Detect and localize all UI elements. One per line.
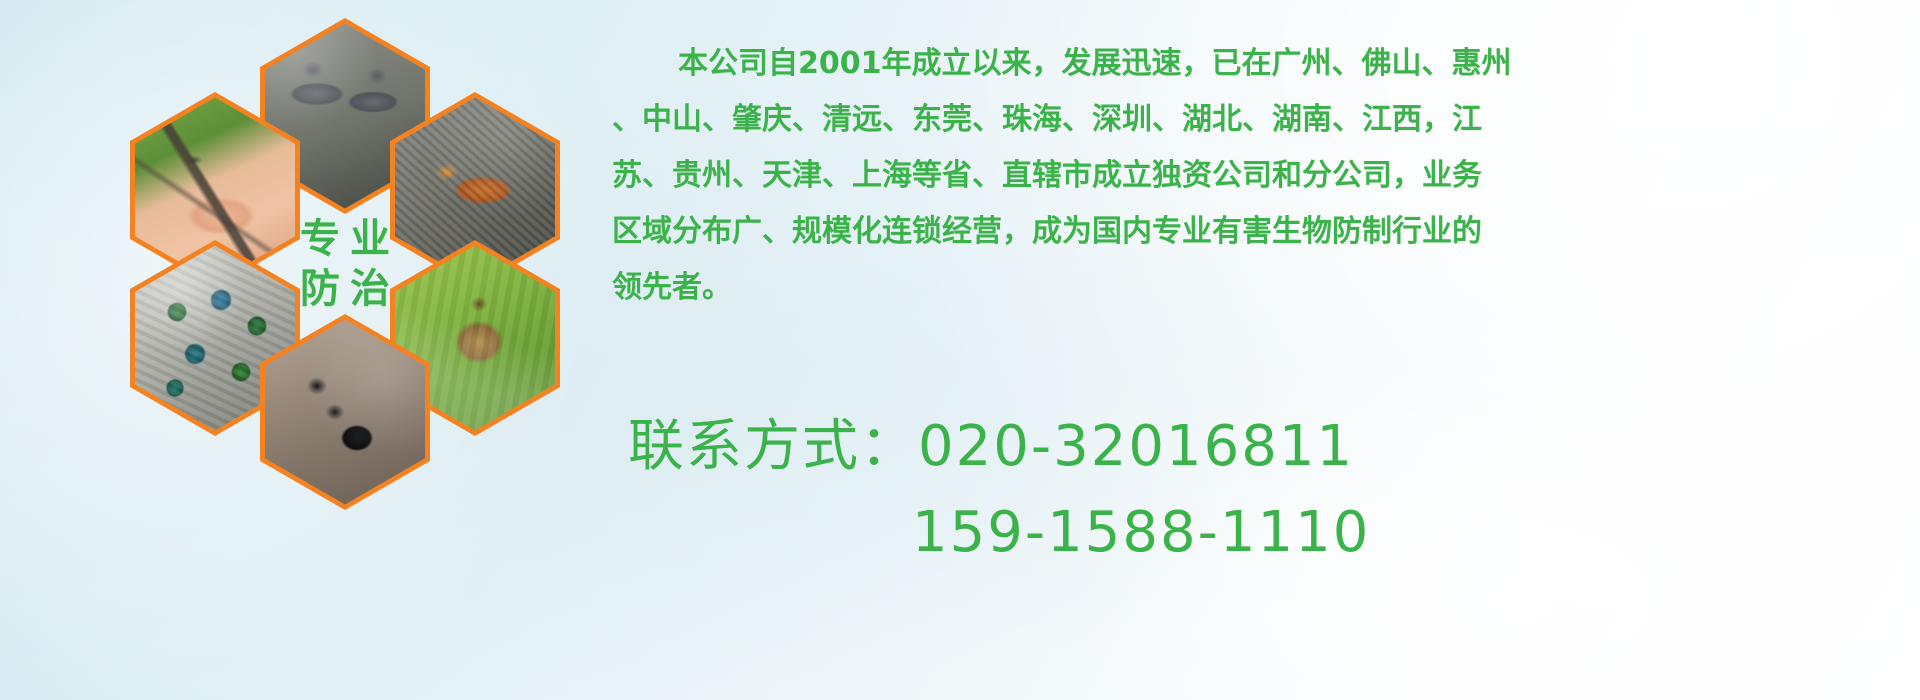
intro-line-2: 、中山、肇庆、清远、东莞、珠海、深圳、湖北、湖南、江西，江 — [612, 92, 1884, 148]
honeycomb-image-cluster: 专业 防治 — [95, 18, 595, 578]
intro-line-5: 领先者。 — [612, 260, 1884, 316]
contact-phone-primary[interactable]: 联系方式：020-32016811 — [628, 404, 1908, 490]
center-label-line-2: 防治 — [290, 269, 400, 309]
promo-banner: 专业 防治 本公司自2001年成立以来，发展迅速，已在广州、佛山、惠州 、中山、… — [0, 0, 1920, 700]
center-label-line-1: 专业 — [290, 219, 400, 259]
intro-line-3: 苏、贵州、天津、上海等省、直辖市成立独资公司和分公司，业务 — [612, 148, 1884, 204]
contact-block: 联系方式：020-32016811 159-1588-1110 — [628, 404, 1908, 576]
contact-phone-mobile[interactable]: 159-1588-1110 — [628, 490, 1908, 576]
intro-line-4: 区域分布广、规模化连锁经营，成为国内专业有害生物防制行业的 — [612, 204, 1884, 260]
intro-line-1: 本公司自2001年成立以来，发展迅速，已在广州、佛山、惠州 — [612, 36, 1884, 92]
intro-paragraph: 本公司自2001年成立以来，发展迅速，已在广州、佛山、惠州 、中山、肇庆、清远、… — [612, 36, 1884, 316]
